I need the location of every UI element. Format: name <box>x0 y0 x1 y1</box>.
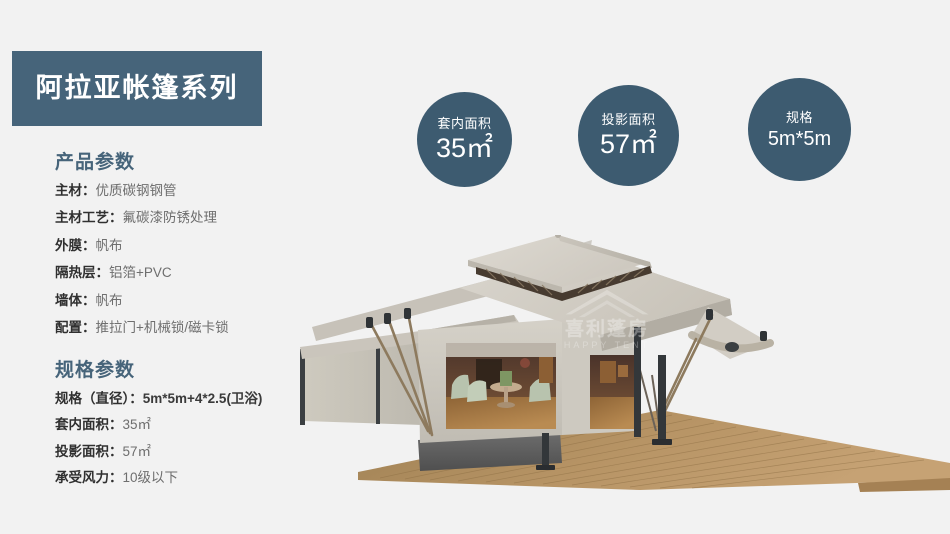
spec-row-value: 57㎡ <box>123 444 152 459</box>
product-row-value: 帆布 <box>96 293 123 308</box>
badge-label: 规格 <box>786 111 813 124</box>
annex-post-mid <box>376 342 380 424</box>
badge-dimension: 规格 5m*5m <box>748 78 851 181</box>
spec-row-value: 35㎡ <box>123 417 152 432</box>
spec-parameters-heading: 规格参数 <box>55 360 262 383</box>
annex-post-left <box>300 349 305 425</box>
product-row-value: 氟碳漆防锈处理 <box>123 210 218 225</box>
interior-header-band <box>446 343 556 357</box>
product-row-value: 优质碳钢钢管 <box>96 183 177 198</box>
tent-illustration <box>300 235 950 505</box>
badge-projected-area: 投影面积 57㎡ <box>578 85 679 186</box>
spec-row-value: 10级以下 <box>123 470 179 485</box>
post-center <box>634 327 641 437</box>
title-banner: 阿拉亚帐篷系列 <box>12 51 262 126</box>
badge-label: 套内面积 <box>437 117 491 130</box>
spec-row-wind-resistance: 承受风力：10级以下 <box>55 471 262 485</box>
spec-row-value: 5m*5m+4*2.5(卫浴) <box>143 391 263 406</box>
product-parameters-section: 产品参数 主材：优质碳钢钢管 主材工艺：氟碳漆防锈处理 外膜：帆布 隔热层：铝箔… <box>55 152 229 349</box>
side-stool <box>618 365 628 377</box>
spec-parameters-section: 规格参数 规格（直径）：5m*5m+4*2.5(卫浴) 套内面积：35㎡ 投影面… <box>55 360 262 498</box>
post-front <box>542 433 549 467</box>
tent-svg <box>300 235 950 505</box>
cabinet-right <box>600 361 616 383</box>
product-row-label: 隔热层： <box>55 265 109 280</box>
flower-arrangement <box>500 371 512 386</box>
product-row-value: 帆布 <box>96 238 123 253</box>
product-row-process: 主材工艺：氟碳漆防锈处理 <box>55 211 229 225</box>
canopy-hub <box>725 342 739 352</box>
interior-floor <box>446 397 556 429</box>
product-row-label: 墙体： <box>55 293 96 308</box>
product-row-wall: 墙体：帆布 <box>55 294 229 308</box>
product-row-insulation: 隔热层：铝箔+PVC <box>55 266 229 280</box>
spec-row-dimension: 规格（直径）：5m*5m+4*2.5(卫浴) <box>55 392 262 406</box>
badge-interior-area: 套内面积 35㎡ <box>417 92 512 187</box>
badge-value: 35㎡ <box>436 135 493 162</box>
post-right-footing <box>652 439 672 445</box>
spec-row-label: 套内面积： <box>55 417 123 432</box>
product-row-configuration: 配置：推拉门+机械锁/磁卡锁 <box>55 321 229 335</box>
product-row-outer-membrane: 外膜：帆布 <box>55 239 229 253</box>
interior-floor-right <box>590 397 636 429</box>
product-row-label: 外膜： <box>55 238 96 253</box>
product-row-label: 主材： <box>55 183 96 198</box>
table-base <box>497 402 515 408</box>
product-parameters-heading: 产品参数 <box>55 152 229 175</box>
product-row-material: 主材：优质碳钢钢管 <box>55 184 229 198</box>
badge-label: 投影面积 <box>601 113 655 126</box>
product-row-label: 配置： <box>55 320 96 335</box>
product-row-value: 推拉门+机械锁/磁卡锁 <box>96 320 229 335</box>
badge-value: 5m*5m <box>768 129 831 149</box>
page-title: 阿拉亚帐篷系列 <box>36 75 239 102</box>
spec-row-label: 投影面积： <box>55 444 123 459</box>
spec-row-label: 规格（直径）： <box>55 391 143 406</box>
wall-art <box>520 358 530 368</box>
spec-row-label: 承受风力： <box>55 470 123 485</box>
cabinet <box>539 357 553 383</box>
product-row-label: 主材工艺： <box>55 210 123 225</box>
product-row-value: 铝箔+PVC <box>109 265 172 280</box>
post-front-footing <box>536 465 555 470</box>
page-root: 阿拉亚帐篷系列 产品参数 主材：优质碳钢钢管 主材工艺：氟碳漆防锈处理 外膜：帆… <box>0 0 950 534</box>
spec-row-projected-area: 投影面积：57㎡ <box>55 445 262 459</box>
post-right <box>658 355 666 443</box>
spec-row-interior-area: 套内面积：35㎡ <box>55 418 262 432</box>
badge-value: 57㎡ <box>600 131 657 158</box>
